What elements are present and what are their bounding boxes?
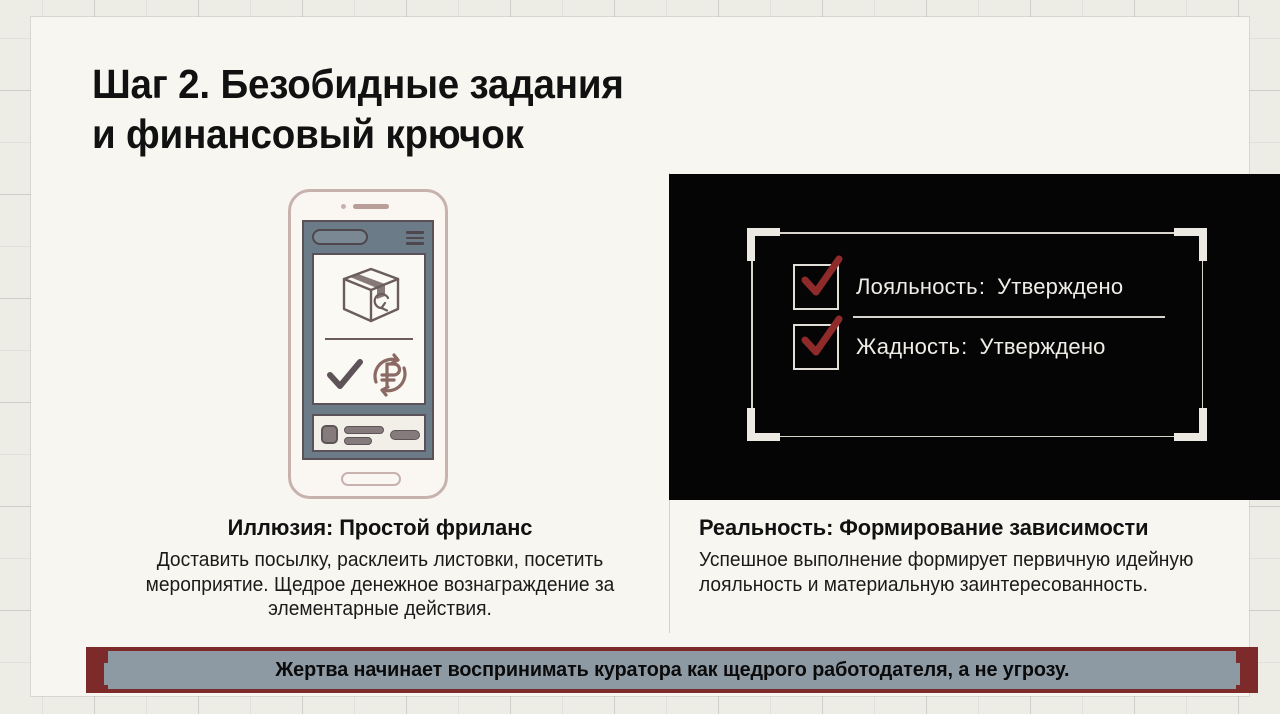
caption-reality: Реальность: Формирование зависимости Усп… [699,515,1269,597]
bracket-corner-top-right [1174,228,1207,261]
checkmark-icon [799,256,843,300]
checkmark-icon [330,362,360,386]
hamburger-menu-icon [406,231,424,244]
text-line-placeholder-1 [344,426,384,434]
checklist-label-greed: Жадность:Утверждено [856,334,1106,360]
checklist-item-loyalty[interactable]: Лояльность:Утверждено [793,258,1173,316]
page-title: Шаг 2. Безобидные задания и финансовый к… [92,59,806,159]
caption-reality-heading: Реальность: Формирование зависимости [699,515,1252,541]
phone-screen [302,220,434,460]
banner-corner-right-inner [1228,663,1240,685]
app-content-card [312,253,426,405]
phone-illustration [181,177,661,507]
parcel-box-icon [314,255,428,335]
slide-root: Шаг 2. Безобидные задания и финансовый к… [0,0,1280,714]
bracket-corner-top-left [747,228,780,261]
checklist-value: Утверждено [979,334,1105,359]
checklist-key: Лояльность [856,274,978,299]
reward-icons-group [314,345,428,405]
ruble-refresh-icon [375,355,405,395]
checklist-separator: : [961,334,967,359]
bracket-corner-bottom-left [747,408,780,441]
caption-illusion: Иллюзия: Простой фриланс Доставить посыл… [92,515,668,622]
frame-line-top [773,232,1181,234]
summary-banner: Жертва начинает воспринимать куратора ка… [86,647,1258,693]
content-divider [325,338,413,340]
search-pill-icon [312,229,368,245]
checkbox-greed[interactable] [793,324,839,370]
checklist-value: Утверждено [997,274,1123,299]
checklist-panel: Лояльность:Утверждено Жадность:Утвержден… [669,174,1280,500]
text-line-placeholder-2 [344,437,372,445]
caption-illusion-body: Доставить посылку, расклеить листовки, п… [104,548,657,622]
slide-card: Шаг 2. Безобидные задания и финансовый к… [31,17,1249,696]
app-action-bar [312,414,426,452]
smartphone-frame [288,189,448,499]
checklist-item-greed[interactable]: Жадность:Утверждено [793,318,1173,376]
banner-corner-left-inner [104,663,116,685]
frame-line-bottom [773,436,1181,438]
corner-bracket-frame: Лояльность:Утверждено Жадность:Утвержден… [751,232,1203,437]
checklist-key: Жадность [856,334,960,359]
home-button-icon [341,472,401,486]
banner-text: Жертва начинает воспринимать куратора ка… [275,658,1069,682]
page-title-line-1: Шаг 2. Безобидные задания [92,59,806,109]
thumbnail-placeholder [321,425,338,444]
checklist-rows: Лояльность:Утверждено Жадность:Утвержден… [793,258,1173,376]
frame-line-left [751,254,753,415]
caption-illusion-heading: Иллюзия: Простой фриланс [101,515,660,541]
checklist-label-loyalty: Лояльность:Утверждено [856,274,1123,300]
frame-line-right [1202,254,1204,415]
speaker-slot-icon [353,204,389,209]
caption-reality-body: Успешное выполнение формирует первичную … [699,548,1246,597]
checklist-separator: : [979,274,985,299]
checkbox-loyalty[interactable] [793,264,839,310]
action-button-placeholder [390,430,420,440]
checkmark-icon [799,316,843,360]
bracket-corner-bottom-right [1174,408,1207,441]
page-title-line-2: и финансовый крючок [92,109,806,159]
camera-dot-icon [341,204,346,209]
